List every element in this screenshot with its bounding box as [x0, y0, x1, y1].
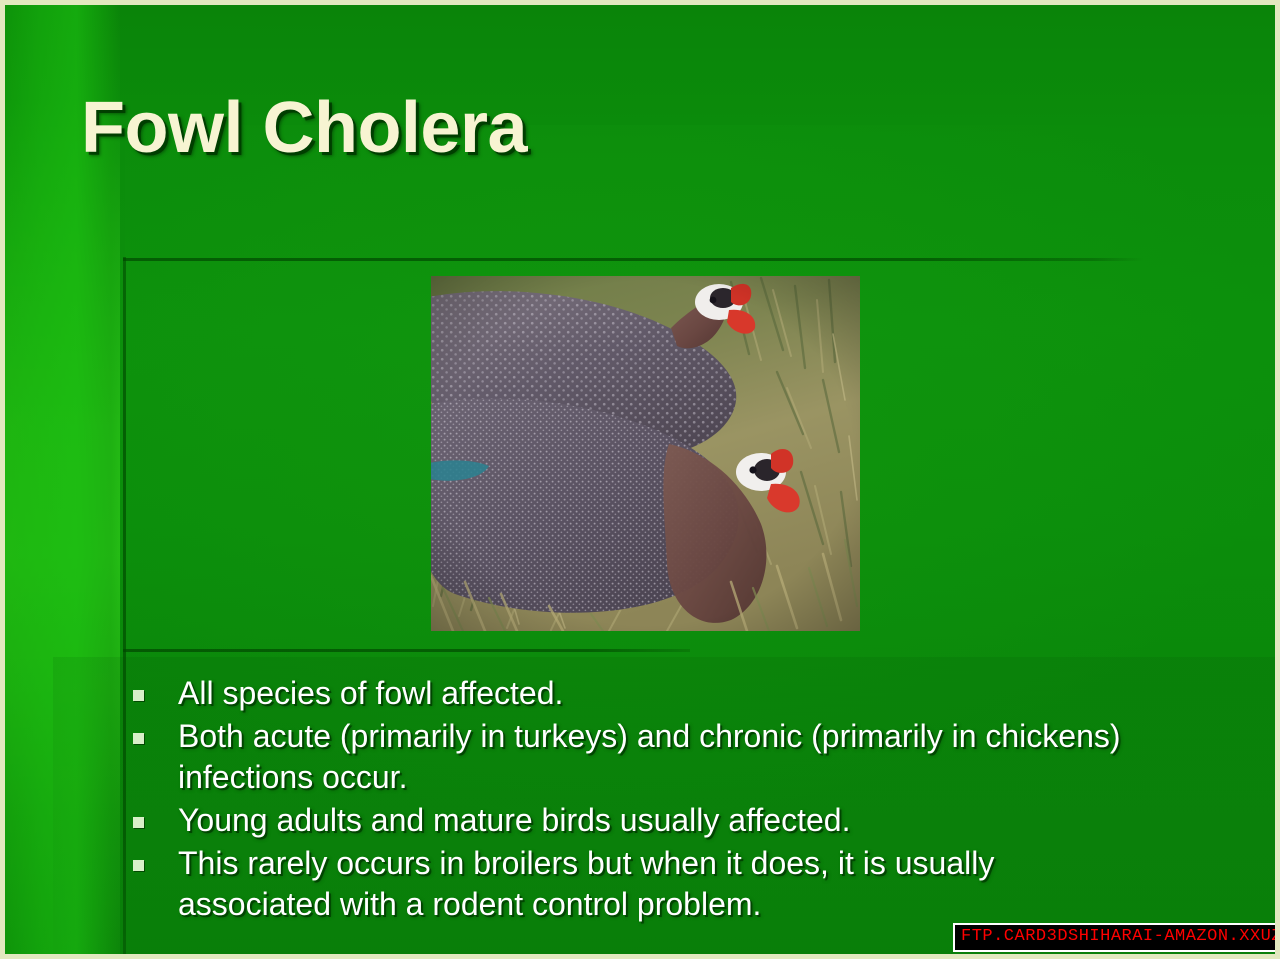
- list-item-label: This rarely occurs in broilers but when …: [178, 843, 1143, 925]
- guinea-fowl-photo-image: [431, 276, 860, 631]
- square-bullet-icon: [133, 817, 144, 828]
- square-bullet-icon: [133, 860, 144, 871]
- list-item: This rarely occurs in broilers but when …: [133, 843, 1143, 925]
- square-bullet-icon: [133, 690, 144, 701]
- slide-canvas: Fowl Cholera: [0, 0, 1280, 959]
- title-divider-line: [123, 258, 1143, 261]
- content-divider-line: [123, 649, 690, 652]
- list-item-label: All species of fowl affected.: [178, 673, 563, 714]
- list-item: Young adults and mature birds usually af…: [133, 800, 1143, 841]
- watermark-banner: FTP.CARD3DSHIHARAI-AMAZON.XXUZ.COM: [953, 923, 1280, 952]
- square-bullet-icon: [133, 733, 144, 744]
- list-item-label: Young adults and mature birds usually af…: [178, 800, 850, 841]
- bullet-list: All species of fowl affected. Both acute…: [133, 673, 1143, 927]
- page-title: Fowl Cholera: [81, 87, 527, 169]
- list-item-label: Both acute (primarily in turkeys) and ch…: [178, 716, 1143, 798]
- guinea-fowl-photo: [431, 276, 860, 631]
- list-item: All species of fowl affected.: [133, 673, 1143, 714]
- list-item: Both acute (primarily in turkeys) and ch…: [133, 716, 1143, 798]
